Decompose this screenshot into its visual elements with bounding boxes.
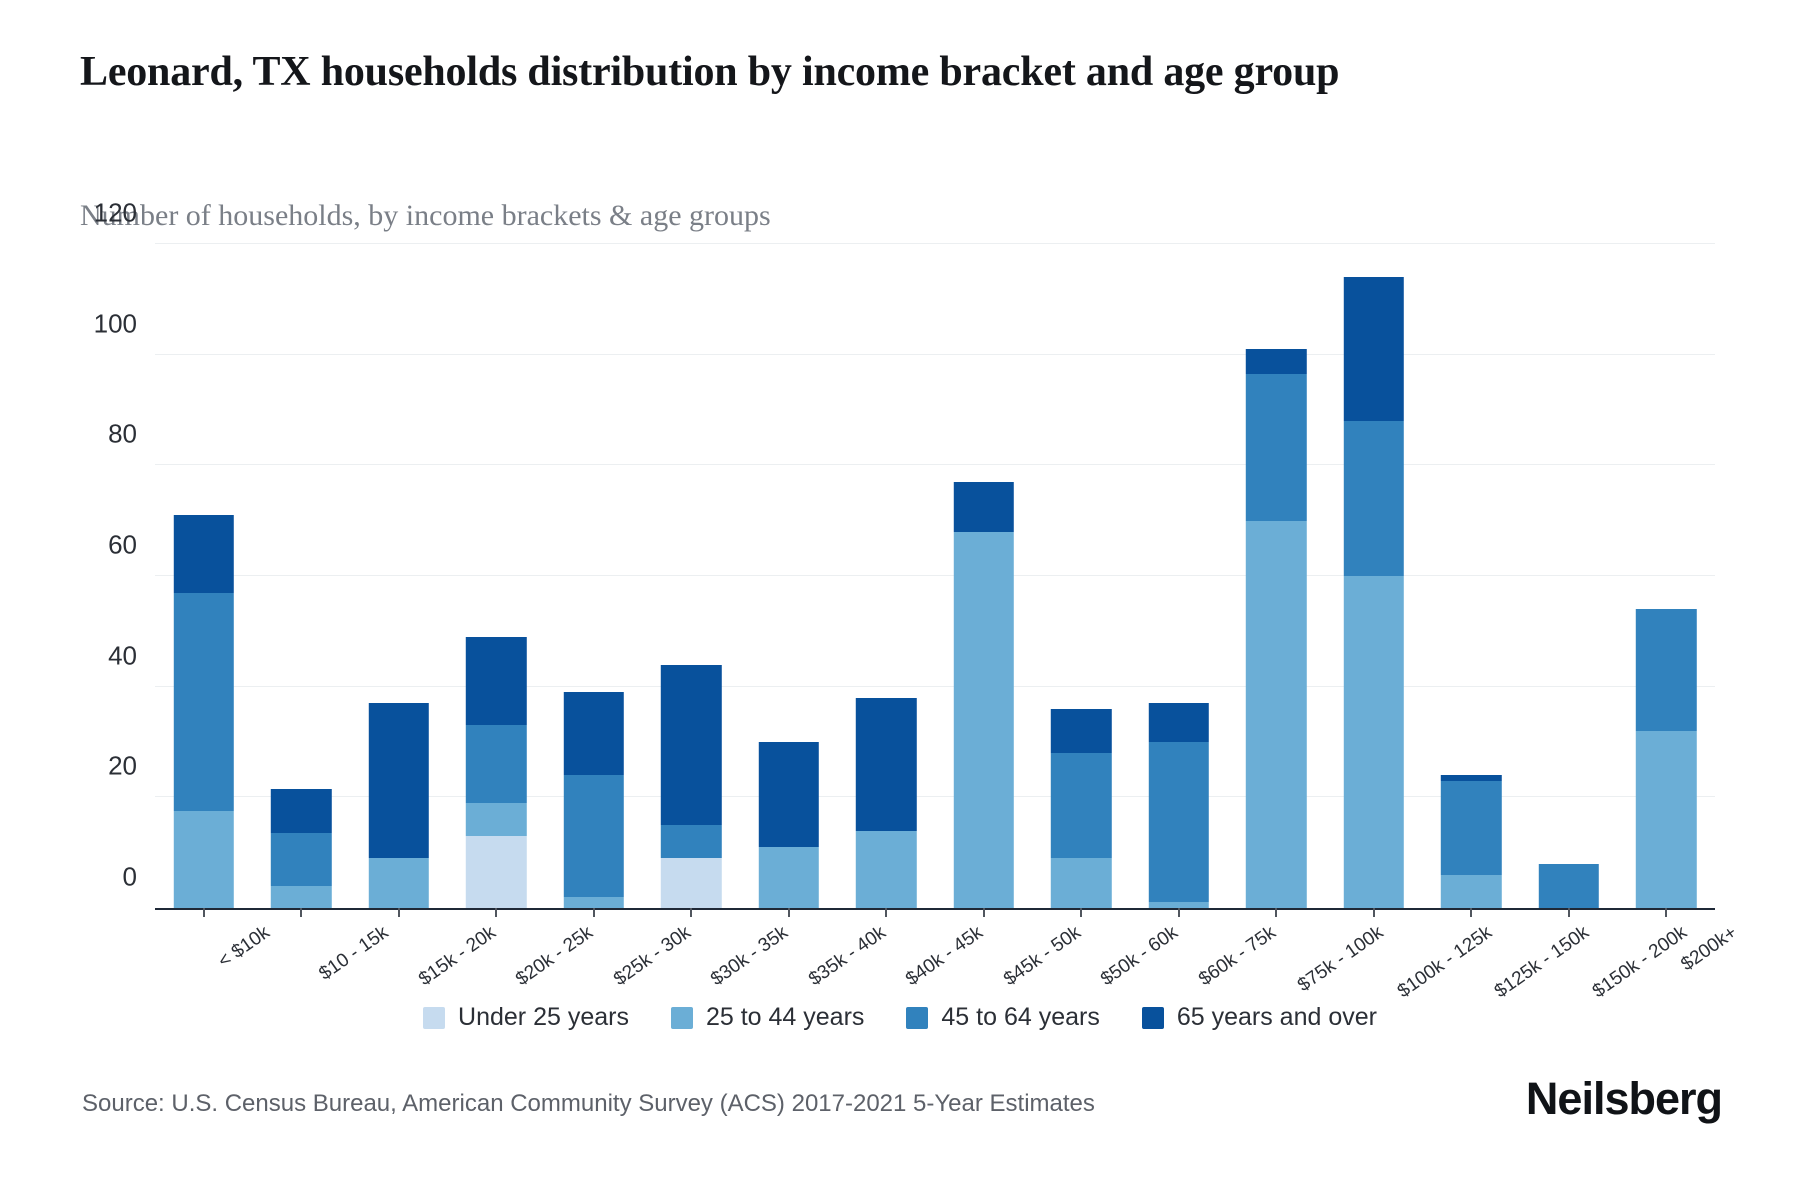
bar-slot[interactable] xyxy=(1033,244,1131,908)
brand-logo: Neilsberg xyxy=(1526,1073,1722,1125)
bar-segment[interactable] xyxy=(369,703,429,858)
bar-segment[interactable] xyxy=(1149,703,1209,742)
bar-segment[interactable] xyxy=(1246,349,1306,374)
bar-segment[interactable] xyxy=(1246,374,1306,521)
bar-segment[interactable] xyxy=(1441,781,1501,875)
bar-slot[interactable] xyxy=(155,244,253,908)
legend-swatch-icon xyxy=(423,1007,445,1029)
bar-stack[interactable] xyxy=(564,244,624,908)
bar-segment[interactable] xyxy=(466,725,526,802)
bar-stack[interactable] xyxy=(271,244,331,908)
bar-segment[interactable] xyxy=(1344,277,1404,421)
bar-slot[interactable] xyxy=(448,244,546,908)
x-axis-label-slot: $15k - 20k xyxy=(350,912,448,1002)
bar-segment[interactable] xyxy=(1344,421,1404,576)
bar-segment[interactable] xyxy=(661,665,721,825)
bar-segment[interactable] xyxy=(1636,731,1696,908)
bar-stack[interactable] xyxy=(1441,244,1501,908)
bar-segment[interactable] xyxy=(369,858,429,908)
bar-slot[interactable] xyxy=(1325,244,1423,908)
bar-stack[interactable] xyxy=(369,244,429,908)
x-axis-label-slot: $60k - 75k xyxy=(1130,912,1228,1002)
bar-segment[interactable] xyxy=(759,847,819,908)
plot-area: 020406080100120 xyxy=(155,230,1715,910)
bar-segment[interactable] xyxy=(1344,576,1404,908)
bar-segment[interactable] xyxy=(466,637,526,726)
bars-group xyxy=(155,244,1715,908)
bar-stack[interactable] xyxy=(1539,244,1599,908)
bar-stack[interactable] xyxy=(466,244,526,908)
page-title: Leonard, TX households distribution by i… xyxy=(80,48,1640,98)
bar-segment[interactable] xyxy=(174,593,234,812)
x-axis-label-slot: $50k - 60k xyxy=(1033,912,1131,1002)
bar-slot[interactable] xyxy=(1618,244,1716,908)
bar-slot[interactable] xyxy=(935,244,1033,908)
y-axis-tick-label: 80 xyxy=(108,419,137,450)
x-axis-label-slot: $40k - 45k xyxy=(838,912,936,1002)
bar-slot[interactable] xyxy=(1130,244,1228,908)
legend-swatch-icon xyxy=(671,1007,693,1029)
bar-segment[interactable] xyxy=(759,742,819,847)
bar-segment[interactable] xyxy=(1441,775,1501,781)
bar-slot[interactable] xyxy=(253,244,351,908)
legend-swatch-icon xyxy=(906,1007,928,1029)
legend-item[interactable]: 25 to 44 years xyxy=(671,1003,864,1032)
bar-stack[interactable] xyxy=(954,244,1014,908)
bar-segment[interactable] xyxy=(174,515,234,592)
y-axis-tick-label: 120 xyxy=(94,198,137,229)
x-axis-label-slot: $30k - 35k xyxy=(643,912,741,1002)
y-axis-tick-label: 60 xyxy=(108,530,137,561)
bar-segment[interactable] xyxy=(1149,742,1209,902)
x-axis-label-slot: $20k - 25k xyxy=(448,912,546,1002)
x-axis-label-slot: $100k - 125k xyxy=(1325,912,1423,1002)
chart-container: Leonard, TX households distribution by i… xyxy=(0,0,1800,1200)
bar-segment[interactable] xyxy=(564,897,624,908)
bar-segment[interactable] xyxy=(466,803,526,836)
bar-segment[interactable] xyxy=(1636,609,1696,731)
bar-slot[interactable] xyxy=(740,244,838,908)
legend-item[interactable]: 65 years and over xyxy=(1142,1003,1377,1032)
x-axis-label-slot: $150k - 200k xyxy=(1520,912,1618,1002)
bar-slot[interactable] xyxy=(350,244,448,908)
bar-segment[interactable] xyxy=(954,482,1014,532)
y-axis-tick-label: 20 xyxy=(108,751,137,782)
bar-segment[interactable] xyxy=(271,789,331,833)
x-axis-label-slot: $75k - 100k xyxy=(1228,912,1326,1002)
bar-segment[interactable] xyxy=(856,698,916,831)
bar-segment[interactable] xyxy=(661,825,721,858)
x-axis-label-slot: $45k - 50k xyxy=(935,912,1033,1002)
chart-subtitle: Number of households, by income brackets… xyxy=(80,198,1480,234)
bar-segment[interactable] xyxy=(564,775,624,897)
x-axis-label-slot: $25k - 30k xyxy=(545,912,643,1002)
bar-stack[interactable] xyxy=(1246,244,1306,908)
bar-slot[interactable] xyxy=(1228,244,1326,908)
bar-segment[interactable] xyxy=(1051,858,1111,908)
x-axis-line xyxy=(155,908,1715,910)
bar-segment[interactable] xyxy=(1051,709,1111,753)
bar-segment[interactable] xyxy=(271,886,331,908)
bar-segment[interactable] xyxy=(564,692,624,775)
source-note: Source: U.S. Census Bureau, American Com… xyxy=(82,1090,1095,1118)
legend-label: 25 to 44 years xyxy=(706,1003,864,1032)
bar-segment[interactable] xyxy=(1441,875,1501,908)
x-axis-label-slot: $200k+ xyxy=(1618,912,1716,1002)
bar-slot[interactable] xyxy=(1423,244,1521,908)
x-axis-labels: < $10k$10 - 15k$15k - 20k$20k - 25k$25k … xyxy=(155,912,1715,1002)
bar-segment[interactable] xyxy=(174,811,234,908)
bar-slot[interactable] xyxy=(545,244,643,908)
bar-stack[interactable] xyxy=(1636,244,1696,908)
x-axis-label: $200k+ xyxy=(1678,922,1742,976)
chart-legend: Under 25 years25 to 44 years45 to 64 yea… xyxy=(0,1003,1800,1032)
bar-segment[interactable] xyxy=(466,836,526,908)
bar-segment[interactable] xyxy=(1051,753,1111,858)
bar-segment[interactable] xyxy=(954,532,1014,908)
bar-segment[interactable] xyxy=(661,858,721,908)
legend-swatch-icon xyxy=(1142,1007,1164,1029)
bar-slot[interactable] xyxy=(838,244,936,908)
y-axis-tick-label: 40 xyxy=(108,640,137,671)
bar-stack[interactable] xyxy=(1149,244,1209,908)
bar-stack[interactable] xyxy=(661,244,721,908)
bar-stack[interactable] xyxy=(856,244,916,908)
legend-label: 45 to 64 years xyxy=(941,1003,1099,1032)
bar-stack[interactable] xyxy=(759,244,819,908)
y-axis-tick-label: 0 xyxy=(123,862,137,893)
bar-segment[interactable] xyxy=(856,831,916,908)
bar-segment[interactable] xyxy=(271,833,331,886)
bar-segment[interactable] xyxy=(1539,864,1599,908)
bar-stack[interactable] xyxy=(1344,244,1404,908)
bar-slot[interactable] xyxy=(1520,244,1618,908)
bar-slot[interactable] xyxy=(643,244,741,908)
y-axis-tick-label: 100 xyxy=(94,308,137,339)
x-axis-label-slot: $35k - 40k xyxy=(740,912,838,1002)
x-axis-label-slot: $10 - 15k xyxy=(253,912,351,1002)
x-axis-label-slot: < $10k xyxy=(155,912,253,1002)
legend-label: 65 years and over xyxy=(1177,1003,1377,1032)
bar-segment[interactable] xyxy=(1246,521,1306,908)
bar-stack[interactable] xyxy=(1051,244,1111,908)
x-axis-label-slot: $125k - 150k xyxy=(1423,912,1521,1002)
legend-label: Under 25 years xyxy=(458,1003,629,1032)
legend-item[interactable]: Under 25 years xyxy=(423,1003,629,1032)
legend-item[interactable]: 45 to 64 years xyxy=(906,1003,1099,1032)
bar-stack[interactable] xyxy=(174,244,234,908)
